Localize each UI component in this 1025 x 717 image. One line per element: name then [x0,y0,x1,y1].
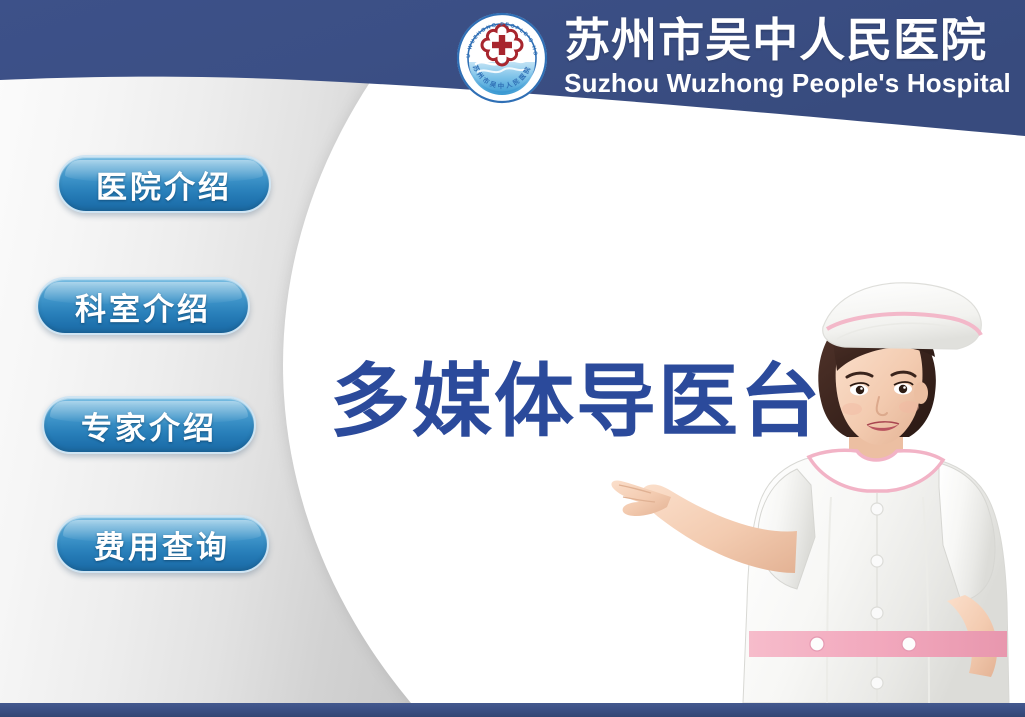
hospital-emblem-icon: SUZHOU WUZHONG PEOPLE'S HOSPITAL 苏州市吴中人民… [456,12,548,104]
sidebar-item-label: 医院介绍 [96,162,232,207]
sidebar-item-label: 费用查询 [94,522,230,567]
footer-bar [0,703,1025,717]
sidebar-item-hospital-intro[interactable]: 医院介绍 [57,155,271,213]
hospital-name-en: Suzhou Wuzhong People's Hospital [564,67,1011,100]
sidebar-item-label: 科室介绍 [75,284,211,329]
sidebar-item-fee-inquiry[interactable]: 费用查询 [55,515,269,573]
hospital-name-cn: 苏州市吴中人民医院 [564,16,987,64]
page-title: 多媒体导医台 [330,362,822,442]
kiosk-screen: 多媒体导医台 [0,0,1025,717]
hospital-name-block: 苏州市吴中人民医院 Suzhou Wuzhong People's Hospit… [564,16,1011,100]
sidebar-item-department-intro[interactable]: 科室介绍 [36,277,250,335]
sidebar-item-expert-intro[interactable]: 专家介绍 [42,396,256,454]
sidebar-nav: 医院介绍 科室介绍 专家介绍 费用查询 [0,0,300,717]
sidebar-item-label: 专家介绍 [81,403,217,448]
